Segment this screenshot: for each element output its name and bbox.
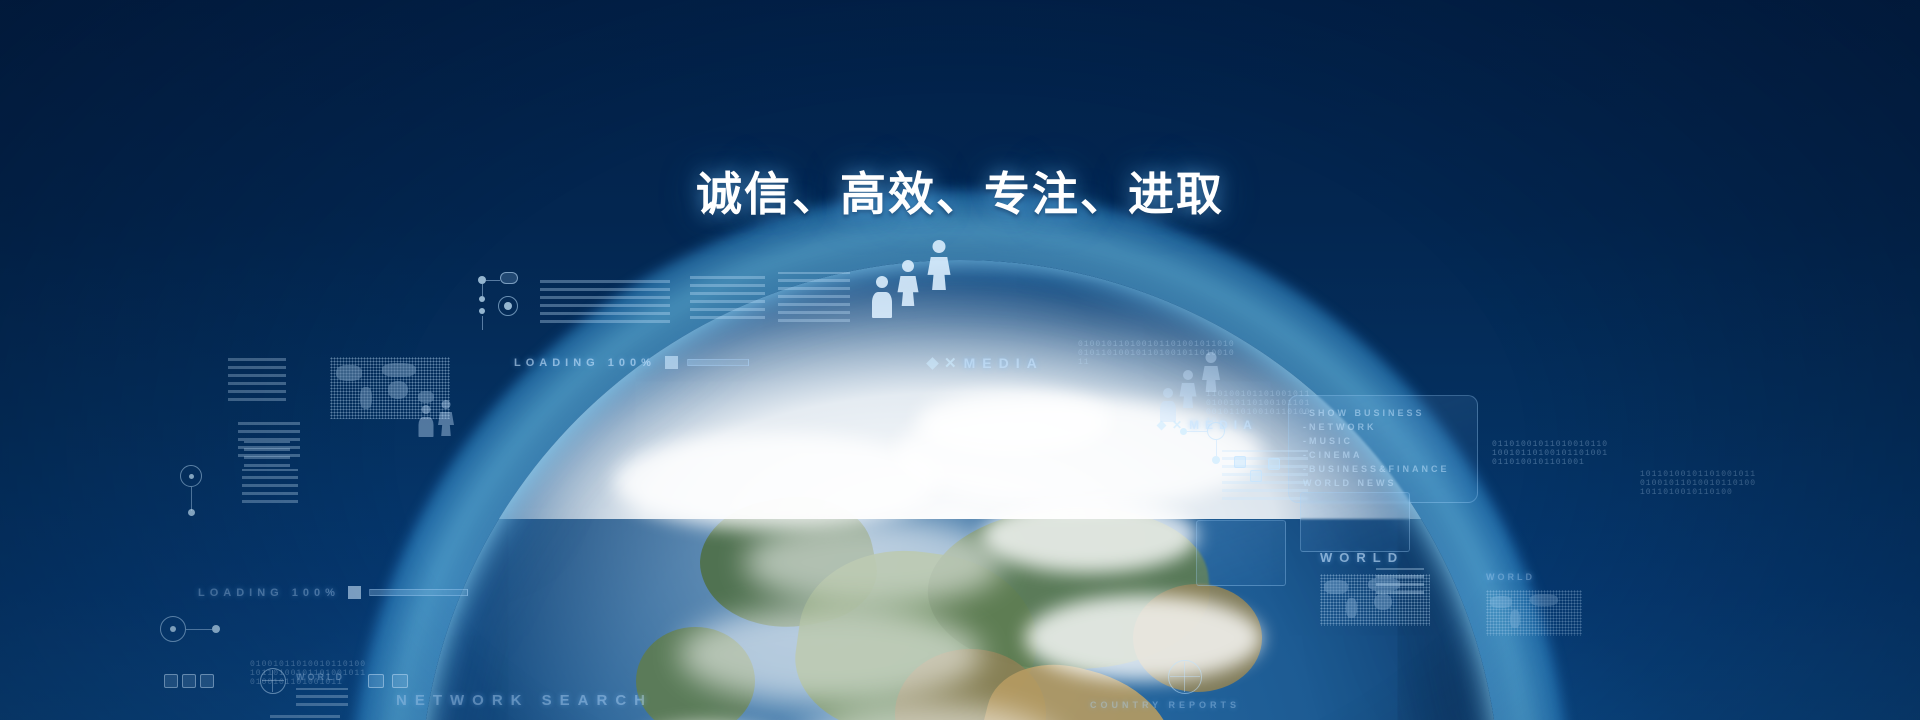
loading-bar-center: LOADING 100% [514,356,749,369]
data-block [244,441,290,467]
progress-cap [665,356,678,369]
person-icon [872,276,892,318]
media-panel[interactable]: -SHOW BUSINESS -NETWORK -MUSIC -CINEMA -… [1288,395,1478,503]
loading-label-left: LOADING 100% [198,587,340,599]
data-block [270,710,340,720]
media-icon [392,674,408,688]
data-block [228,355,286,401]
square-icon [164,674,178,688]
right-panel-small[interactable] [1196,520,1286,586]
globe-small-icon [1168,660,1202,694]
progress-track [369,589,468,596]
media-tag-center: ✕ MEDIA [928,354,1044,372]
media-panel-item[interactable]: -MUSIC [1303,436,1463,446]
right-panel-small[interactable] [1300,492,1410,552]
world-block-right-2: WORLD [1486,572,1656,652]
world-map-graphic [1486,590,1582,636]
media-panel-item[interactable]: -CINEMA [1303,450,1463,460]
page-title: 诚信、高效、专注、进取 [0,158,1920,224]
binary-stream-3: 0110100101101001011010010110100101101001… [1492,440,1612,500]
people-group-top [872,236,962,326]
person-icon [928,240,950,290]
network-search-label: NETWORK SEARCH [396,692,653,709]
progress-cap [348,586,361,599]
diamond-icon [1157,420,1167,430]
search-icon [368,674,384,688]
square-icon [200,674,214,688]
country-reports-label: COUNTRY REPORTS [1090,700,1240,710]
data-block-3 [778,272,850,322]
world-label-3: WORLD [1486,572,1535,582]
hud-left-cluster [160,345,520,545]
checker-graphic [1234,456,1304,496]
world-block-right-1: WORLD [1320,550,1510,630]
square-icon [182,674,196,688]
media-panel-item[interactable]: -SHOW BUSINESS [1303,408,1463,418]
media-panel-item[interactable]: -BUSINESS&FINANCE [1303,464,1463,474]
data-block-2 [690,275,765,319]
data-block-1 [540,275,670,323]
media-label: MEDIA [964,355,1044,371]
hero-banner: LOADING 100% WORLD [0,0,1920,720]
person-icon [1202,352,1220,392]
person-icon [418,405,434,437]
loading-label-center: LOADING 100% [514,357,656,369]
hud-node-group [470,272,530,334]
person-icon [898,260,918,306]
world-label-2: WORLD [1320,550,1404,565]
media-panel-item[interactable]: -NETWORK [1303,422,1463,432]
close-x-icon: ✕ [944,354,957,372]
progress-track [687,359,749,366]
media-panel-item[interactable]: WORLD NEWS [1303,478,1463,488]
binary-stream-5: 0100101101001011010010110100101101001011… [250,660,370,710]
binary-stream-2: 1101001011010010110100101101001011010010… [1206,390,1316,430]
close-x-icon: ✕ [1172,418,1182,432]
binary-stream-4: 1011010010110100101101001011010010110100… [1640,470,1760,526]
person-icon [438,400,454,436]
diamond-icon [926,357,939,370]
loading-bar-left: LOADING 100% [198,586,468,599]
person-icon [1160,388,1176,422]
person-icon [1180,370,1196,408]
data-block [242,469,298,503]
